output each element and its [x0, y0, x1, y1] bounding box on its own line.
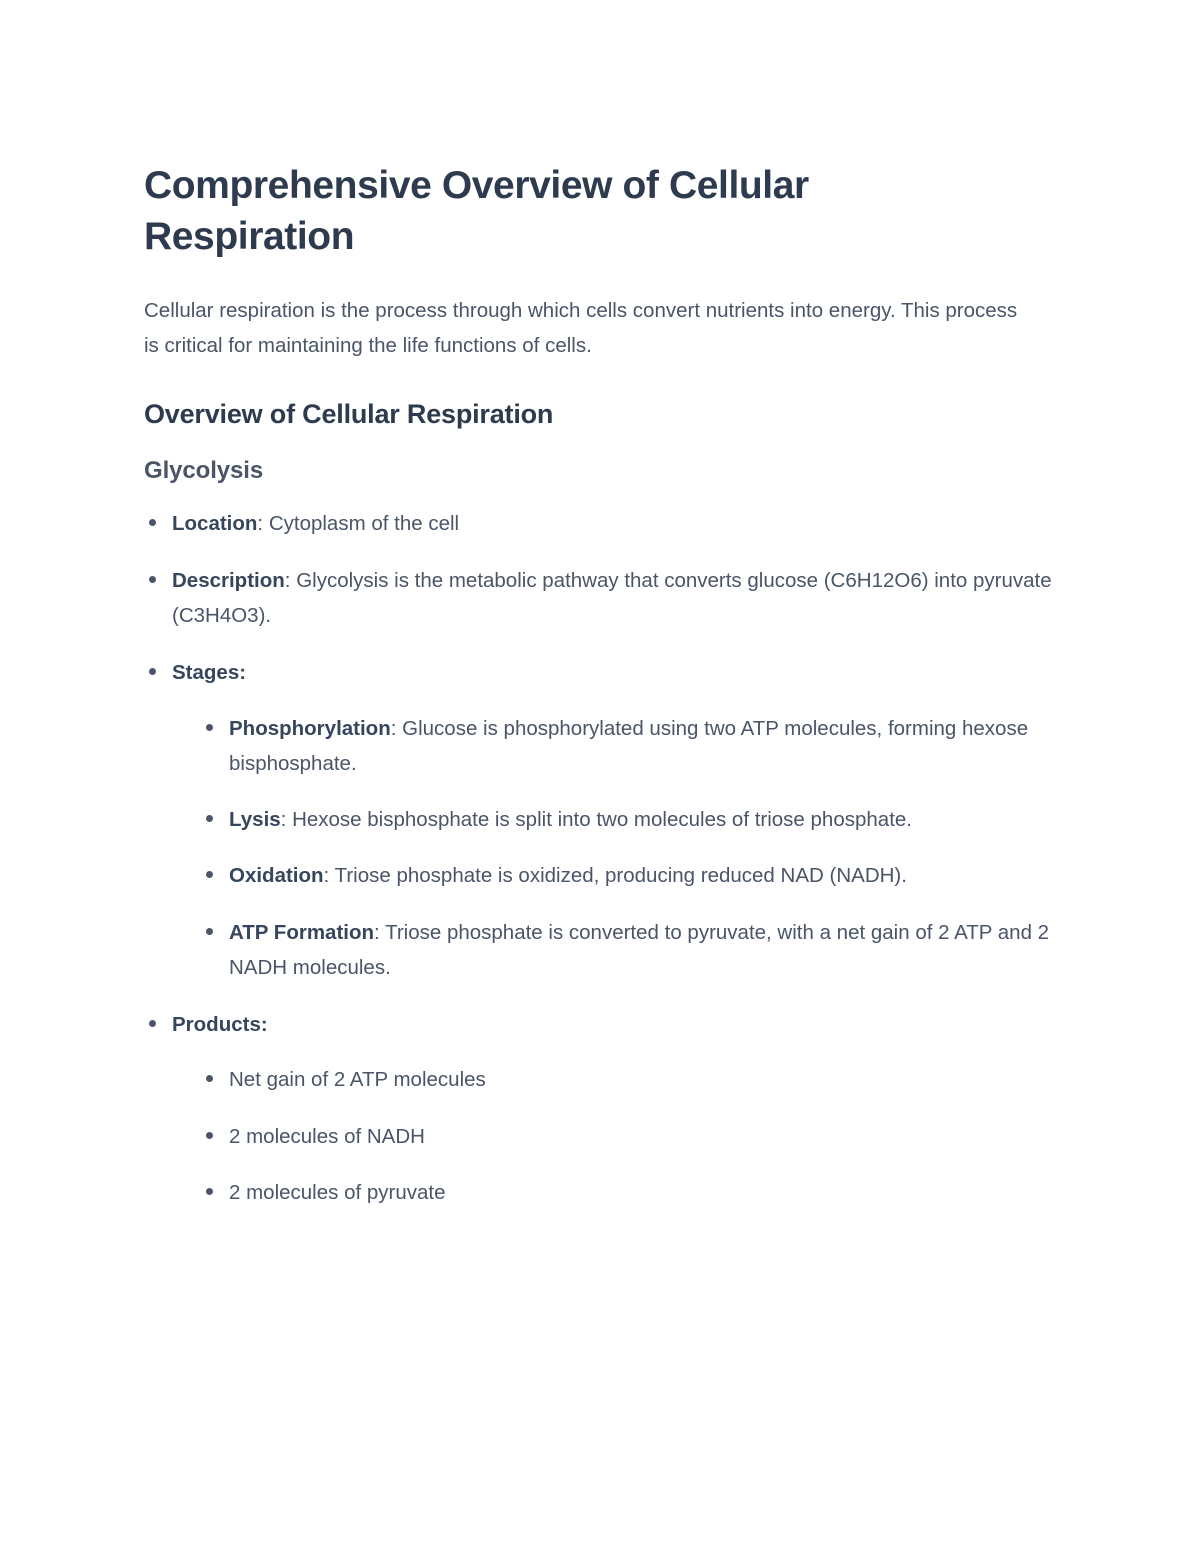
bullet-separator-oxidation: : [324, 864, 335, 887]
bullet-label-products: Products [172, 1013, 261, 1036]
bullet-text-location: Cytoplasm of the cell [269, 512, 459, 535]
bullet-text-product-pyruvate: 2 molecules of pyruvate [229, 1181, 446, 1204]
document-page: Comprehensive Overview of Cellular Respi… [0, 0, 1200, 1553]
bullet-text-product-atp: Net gain of 2 ATP molecules [229, 1068, 486, 1091]
list-item-product-nadh: 2 molecules of NADH [201, 1119, 1056, 1154]
list-item-oxidation: Oxidation: Triose phosphate is oxidized,… [201, 858, 1056, 893]
page-title: Comprehensive Overview of Cellular Respi… [144, 160, 1024, 263]
bullet-label-stages: Stages [172, 661, 239, 684]
glycolysis-bullet-list: Location: Cytoplasm of the cell Descript… [144, 506, 1056, 1211]
document-content: Comprehensive Overview of Cellular Respi… [144, 160, 1056, 1232]
bullet-separator-description: : [285, 569, 296, 592]
bullet-separator-stages: : [239, 661, 246, 684]
bullet-text-oxidation: Triose phosphate is oxidized, producing … [335, 864, 907, 887]
bullet-label-description: Description [172, 569, 285, 592]
bullet-label-phosphorylation: Phosphorylation [229, 717, 391, 740]
bullet-label-location: Location [172, 512, 257, 535]
bullet-label-lysis: Lysis [229, 808, 281, 831]
bullet-separator-products: : [261, 1013, 268, 1036]
products-sub-list: Net gain of 2 ATP molecules 2 molecules … [172, 1062, 1056, 1210]
section-heading-overview: Overview of Cellular Respiration [144, 397, 1056, 432]
list-item-product-atp: Net gain of 2 ATP molecules [201, 1062, 1056, 1097]
bullet-label-atp-formation: ATP Formation [229, 921, 374, 944]
bullet-label-oxidation: Oxidation [229, 864, 324, 887]
stages-sub-list: Phosphorylation: Glucose is phosphorylat… [172, 711, 1056, 986]
sub-heading-glycolysis: Glycolysis [144, 455, 1056, 486]
list-item-description: Description: Glycolysis is the metabolic… [144, 563, 1056, 634]
list-item-products: Products: Net gain of 2 ATP molecules 2 … [144, 1007, 1056, 1210]
list-item-atp-formation: ATP Formation: Triose phosphate is conve… [201, 915, 1056, 986]
list-item-lysis: Lysis: Hexose bisphosphate is split into… [201, 802, 1056, 837]
bullet-separator-lysis: : [281, 808, 292, 831]
bullet-text-lysis: Hexose bisphosphate is split into two mo… [292, 808, 912, 831]
intro-paragraph: Cellular respiration is the process thro… [144, 293, 1034, 364]
bullet-text-description: Glycolysis is the metabolic pathway that… [172, 569, 1052, 627]
list-item-phosphorylation: Phosphorylation: Glucose is phosphorylat… [201, 711, 1056, 782]
list-item-product-pyruvate: 2 molecules of pyruvate [201, 1175, 1056, 1210]
bullet-text-product-nadh: 2 molecules of NADH [229, 1125, 425, 1148]
list-item-stages: Stages: Phosphorylation: Glucose is phos… [144, 655, 1056, 985]
bullet-separator-atp-formation: : [374, 921, 385, 944]
bullet-separator-location: : [257, 512, 268, 535]
bullet-separator-phosphorylation: : [391, 717, 402, 740]
list-item-location: Location: Cytoplasm of the cell [144, 506, 1056, 541]
